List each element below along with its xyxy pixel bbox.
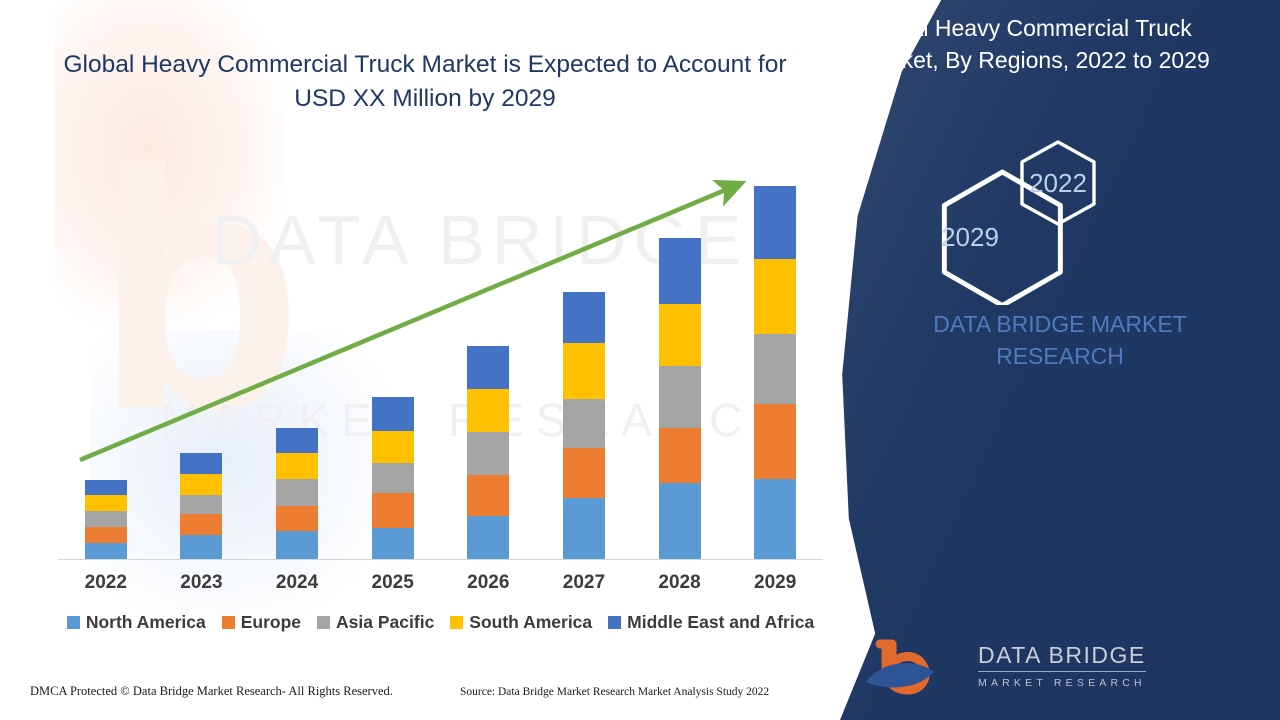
dbmr-logo-text: DATA BRIDGE MARKET RESEARCH	[978, 642, 1228, 689]
bar-segment	[659, 304, 701, 366]
chart-title: Global Heavy Commercial Truck Market is …	[60, 48, 790, 116]
bar-segment	[276, 428, 318, 453]
stacked-bar	[563, 292, 605, 559]
bar-column-2028	[632, 150, 727, 559]
x-axis-label-2028: 2028	[632, 572, 727, 594]
bar-segment	[180, 453, 222, 474]
bar-segment	[276, 479, 318, 506]
hexagon-2029-label: 2029	[941, 222, 999, 252]
bar-segment	[754, 334, 796, 404]
bar-segment	[85, 495, 127, 511]
bar-column-2029	[728, 150, 823, 559]
bar-segment	[180, 474, 222, 495]
bar-segment	[563, 343, 605, 399]
bar-column-2027	[536, 150, 631, 559]
logo-text-line-2: MARKET RESEARCH	[978, 677, 1228, 689]
stacked-bar	[659, 238, 701, 559]
footer-source: Source: Data Bridge Market Research Mark…	[460, 686, 769, 698]
x-axis-labels: 20222023202420252026202720282029	[58, 572, 823, 594]
brand-line-1: DATA BRIDGE MARKET	[860, 308, 1260, 340]
bar-segment	[563, 399, 605, 448]
bar-segment	[372, 397, 414, 431]
dbmr-logo: DATA BRIDGE MARKET RESEARCH	[860, 638, 1260, 700]
hexagon-2022-label: 2022	[1029, 168, 1087, 198]
bar-segment	[467, 475, 509, 516]
x-axis-label-2027: 2027	[536, 572, 631, 594]
stacked-bar	[276, 428, 318, 559]
legend-swatch-icon	[67, 616, 80, 629]
bar-segment	[659, 428, 701, 483]
x-axis-label-2026: 2026	[441, 572, 536, 594]
dbmr-logo-mark	[860, 638, 970, 698]
chart-legend: North AmericaEuropeAsia PacificSouth Ame…	[58, 612, 823, 633]
legend-label: Asia Pacific	[336, 612, 434, 633]
bar-segment	[276, 531, 318, 559]
bar-segment	[180, 535, 222, 559]
bar-segment	[659, 238, 701, 304]
footer-copyright: DMCA Protected © Data Bridge Market Rese…	[30, 684, 393, 699]
bar-column-2023	[154, 150, 249, 559]
bar-segment	[467, 516, 509, 559]
legend-label: North America	[86, 612, 206, 633]
bar-segment	[754, 186, 796, 259]
bar-segment	[467, 432, 509, 475]
legend-label: South America	[469, 612, 592, 633]
bar-segment	[754, 259, 796, 334]
legend-item: South America	[450, 612, 592, 633]
legend-swatch-icon	[608, 616, 621, 629]
bar-segment	[563, 292, 605, 343]
hexagon-badges: 2022 2029	[840, 130, 1280, 305]
bar-segment	[276, 453, 318, 479]
bar-column-2026	[441, 150, 536, 559]
bar-segment	[85, 511, 127, 527]
legend-label: Europe	[241, 612, 301, 633]
panel-title: Global Heavy Commercial Truck Market, By…	[862, 12, 1252, 76]
stacked-bar-group	[58, 150, 823, 559]
x-axis-label-2029: 2029	[728, 572, 823, 594]
legend-swatch-icon	[450, 616, 463, 629]
bar-segment	[85, 527, 127, 543]
x-axis-label-2025: 2025	[345, 572, 440, 594]
bar-segment	[467, 389, 509, 432]
bar-segment	[372, 463, 414, 493]
bar-segment	[754, 404, 796, 479]
x-axis-label-2024: 2024	[250, 572, 345, 594]
bar-column-2022	[58, 150, 153, 559]
legend-label: Middle East and Africa	[627, 612, 814, 633]
x-axis-label-2022: 2022	[58, 572, 153, 594]
bar-segment	[659, 366, 701, 428]
bar-segment	[276, 506, 318, 531]
legend-item: North America	[67, 612, 206, 633]
bar-segment	[372, 493, 414, 528]
x-axis-line	[58, 559, 823, 560]
right-panel: Global Heavy Commercial Truck Market, By…	[840, 0, 1280, 720]
stacked-bar	[372, 397, 414, 559]
x-axis-label-2023: 2023	[154, 572, 249, 594]
legend-item: Asia Pacific	[317, 612, 434, 633]
brand-line-2: RESEARCH	[860, 340, 1260, 372]
bar-segment	[180, 514, 222, 535]
bar-segment	[180, 495, 222, 514]
stacked-bar	[467, 346, 509, 559]
bar-segment	[659, 483, 701, 559]
logo-text-line-1: DATA BRIDGE	[978, 642, 1146, 672]
stacked-bar	[180, 453, 222, 559]
legend-swatch-icon	[317, 616, 330, 629]
bar-column-2024	[250, 150, 345, 559]
bar-segment	[563, 448, 605, 498]
bar-segment	[467, 346, 509, 389]
brand-name: DATA BRIDGE MARKET RESEARCH	[860, 308, 1260, 372]
stacked-bar	[85, 480, 127, 559]
bar-segment	[563, 498, 605, 559]
legend-swatch-icon	[222, 616, 235, 629]
plot-area	[58, 150, 823, 560]
legend-item: Europe	[222, 612, 301, 633]
bar-segment	[85, 480, 127, 495]
infographic-canvas: b DATA BRIDGE MARKET RESEARCH Global Hea…	[0, 0, 1280, 720]
bar-column-2025	[345, 150, 440, 559]
legend-item: Middle East and Africa	[608, 612, 814, 633]
stacked-bar	[754, 186, 796, 559]
bar-segment	[754, 479, 796, 559]
bar-segment	[85, 543, 127, 559]
bar-segment	[372, 431, 414, 463]
bar-segment	[372, 528, 414, 559]
